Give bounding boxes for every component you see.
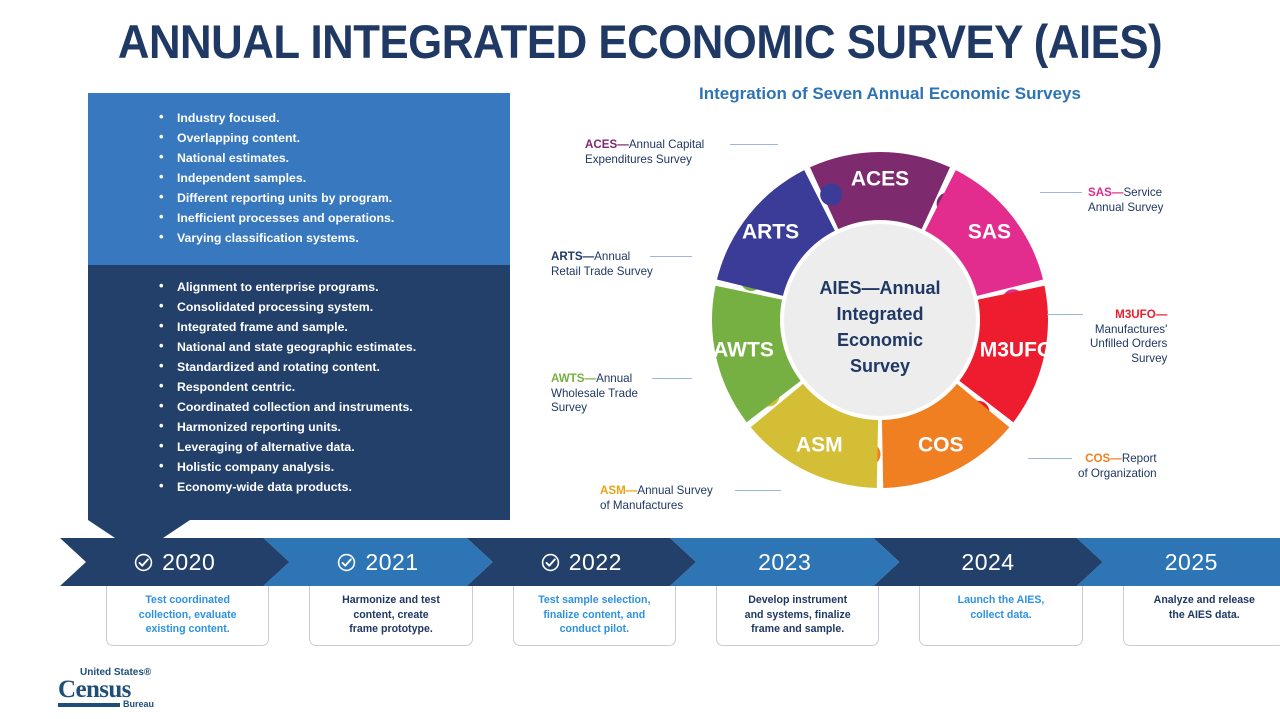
timeline-caption-2020: Test coordinatedcollection, evaluateexis… <box>106 586 269 646</box>
callout-rest-awts: Annual <box>596 372 632 385</box>
callout-leader-awts <box>652 378 692 379</box>
wheel-knob-arts <box>820 184 842 206</box>
logo-census-wordmark: Census <box>58 677 178 702</box>
callout-leader-arts <box>650 256 692 257</box>
timeline-caption-line: the AIES data. <box>1124 608 1280 623</box>
timeline-caption-line: collect data. <box>920 608 1081 623</box>
timeline-caption-2023: Develop instrumentand systems, finalizef… <box>716 586 879 646</box>
callout-abbr-m3ufo: M3UFO— <box>1115 308 1167 321</box>
future-state-bullet: Standardized and rotating content. <box>155 357 416 377</box>
future-state-bullet: Harmonized reporting units. <box>155 417 416 437</box>
timeline-caption-line: content, create <box>310 608 471 623</box>
future-state-bullet: Respondent centric. <box>155 377 416 397</box>
wheel-center-line: AIES—Annual <box>819 278 940 298</box>
callout-leader-sas <box>1040 192 1082 193</box>
callout-line-m3ufo: Unfilled Orders <box>1090 337 1167 352</box>
logo-bar <box>58 703 120 707</box>
future-state-bullet-list: Alignment to enterprise programs.Consoli… <box>155 277 416 497</box>
timeline-year-label: 2020 <box>162 549 215 576</box>
future-state-bullet: Holistic company analysis. <box>155 457 416 477</box>
timeline-caption-line: finalize content, and <box>514 608 675 623</box>
current-state-bullet: National estimates. <box>155 148 394 168</box>
callout-aces: ACES—Annual CapitalExpenditures Survey <box>585 138 704 167</box>
check-circle-icon <box>541 553 560 572</box>
callout-leader-aces <box>730 144 778 145</box>
future-state-label: Future State <box>28 233 50 405</box>
callout-abbr-asm: ASM— <box>600 484 637 497</box>
census-bureau-logo: United States® Census Bureau <box>58 668 178 709</box>
current-state-bullet: Overlapping content. <box>155 128 394 148</box>
logo-bureau-text: Bureau <box>123 700 154 709</box>
current-state-label: Current State <box>28 17 50 189</box>
future-state-bullet: Economy-wide data products. <box>155 477 416 497</box>
timeline-caption-line: existing content. <box>107 622 268 637</box>
callout-line-m3ufo: Survey <box>1090 352 1167 367</box>
wheel-segment-label-arts: ARTS <box>742 220 799 243</box>
timeline-caption-line: Test coordinated <box>107 593 268 608</box>
callout-asm: ASM—Annual Surveyof Manufactures <box>600 484 713 513</box>
current-state-bullet: Varying classification systems. <box>155 228 394 248</box>
callout-abbr-aces: ACES— <box>585 138 629 151</box>
timeline-year-label: 2025 <box>1165 549 1218 576</box>
future-state-bullet: Leveraging of alternative data. <box>155 437 416 457</box>
callout-leader-m3ufo <box>1047 314 1083 315</box>
timeline-caption-line: frame and sample. <box>717 622 878 637</box>
timeline-caption-2025: Analyze and releasethe AIES data. <box>1123 586 1280 646</box>
current-state-bullet: Inefficient processes and operations. <box>155 208 394 228</box>
timeline-milestone-2020[interactable]: 2020 <box>60 538 289 586</box>
callout-line-aces: Expenditures Survey <box>585 153 704 168</box>
callout-line-m3ufo: Manufactures' <box>1090 323 1167 338</box>
future-state-bullet: National and state geographic estimates. <box>155 337 416 357</box>
future-state-bullet: Alignment to enterprise programs. <box>155 277 416 297</box>
wheel-subtitle: Integration of Seven Annual Economic Sur… <box>600 84 1180 104</box>
timeline-caption-2021: Harmonize and testcontent, createframe p… <box>309 586 472 646</box>
page-title: ANNUAL INTEGRATED ECONOMIC SURVEY (AIES) <box>45 14 1235 69</box>
timeline-milestone-2022[interactable]: 2022 <box>467 538 696 586</box>
wheel-center-line: Integrated <box>836 304 923 324</box>
timeline-milestone-2024[interactable]: 2024 <box>873 538 1102 586</box>
wheel-segment-label-cos: COS <box>918 434 964 457</box>
future-state-bullet: Consolidated processing system. <box>155 297 416 317</box>
wheel-segment-label-awts: AWTS <box>713 339 774 362</box>
callout-line-awts: Wholesale Trade <box>551 387 638 402</box>
callout-abbr-sas: SAS— <box>1088 186 1123 199</box>
callout-m3ufo: M3UFO—Manufactures'Unfilled OrdersSurvey <box>1090 308 1167 366</box>
timeline: 2020Test coordinatedcollection, evaluate… <box>0 538 1280 648</box>
callout-rest-asm: Annual Survey <box>637 484 712 497</box>
current-state-bullet: Independent samples. <box>155 168 394 188</box>
future-state-bullet: Integrated frame and sample. <box>155 317 416 337</box>
timeline-caption-2024: Launch the AIES,collect data. <box>919 586 1082 646</box>
callout-line-arts: Retail Trade Survey <box>551 265 653 280</box>
callout-awts: AWTS—AnnualWholesale TradeSurvey <box>551 372 638 416</box>
callout-cos: COS—Reportof Organization <box>1078 452 1157 481</box>
timeline-caption-line: and systems, finalize <box>717 608 878 623</box>
timeline-year-label: 2023 <box>758 549 811 576</box>
puzzle-wheel-svg: AIES—AnnualIntegratedEconomicSurvey ACES… <box>655 105 1105 535</box>
callout-rest-arts: Annual <box>594 250 630 263</box>
future-state-bullet: Coordinated collection and instruments. <box>155 397 416 417</box>
wheel-segment-label-asm: ASM <box>796 434 843 457</box>
callout-line-sas: Annual Survey <box>1088 201 1163 216</box>
timeline-year-label: 2024 <box>961 549 1014 576</box>
callout-sas: SAS—ServiceAnnual Survey <box>1088 186 1163 215</box>
timeline-milestone-2023[interactable]: 2023 <box>670 538 899 586</box>
timeline-caption-line: conduct pilot. <box>514 622 675 637</box>
current-state-bullet-list: Industry focused.Overlapping content.Nat… <box>155 108 394 248</box>
wheel-center-line: Survey <box>850 356 910 376</box>
timeline-milestone-2025[interactable]: 2025 <box>1077 538 1280 586</box>
timeline-caption-line: Launch the AIES, <box>920 593 1081 608</box>
callout-line-awts: Survey <box>551 401 638 416</box>
current-state-bullet: Industry focused. <box>155 108 394 128</box>
puzzle-wheel: AIES—AnnualIntegratedEconomicSurvey ACES… <box>655 105 1105 535</box>
callout-leader-asm <box>735 490 781 491</box>
timeline-caption-line: Test sample selection, <box>514 593 675 608</box>
timeline-milestone-2021[interactable]: 2021 <box>263 538 492 586</box>
timeline-caption-line: Harmonize and test <box>310 593 471 608</box>
wheel-center-line: Economic <box>837 330 923 350</box>
current-state-bullet: Different reporting units by program. <box>155 188 394 208</box>
callout-rest-sas: Service <box>1123 186 1162 199</box>
wheel-segment-label-sas: SAS <box>968 220 1011 243</box>
callout-arts: ARTS—AnnualRetail Trade Survey <box>551 250 653 279</box>
callout-rest-aces: Annual Capital <box>629 138 704 151</box>
wheel-segment-label-aces: ACES <box>851 168 909 191</box>
timeline-caption-line: Analyze and release <box>1124 593 1280 608</box>
callout-line-asm: of Manufactures <box>600 499 713 514</box>
check-circle-icon <box>337 553 356 572</box>
timeline-caption-line: frame prototype. <box>310 622 471 637</box>
check-circle-icon <box>134 553 153 572</box>
callout-leader-cos <box>1028 458 1072 459</box>
callout-abbr-awts: AWTS— <box>551 372 596 385</box>
wheel-segment-label-m3ufo: M3UFO <box>980 339 1054 362</box>
timeline-caption-line: Develop instrument <box>717 593 878 608</box>
callout-abbr-arts: ARTS— <box>551 250 594 263</box>
timeline-caption-line: collection, evaluate <box>107 608 268 623</box>
callout-rest-cos: Report <box>1122 452 1157 465</box>
callout-abbr-cos: COS— <box>1085 452 1122 465</box>
timeline-year-label: 2022 <box>569 549 622 576</box>
callout-line-cos: of Organization <box>1078 467 1157 482</box>
timeline-year-label: 2021 <box>365 549 418 576</box>
timeline-caption-2022: Test sample selection,finalize content, … <box>513 586 676 646</box>
